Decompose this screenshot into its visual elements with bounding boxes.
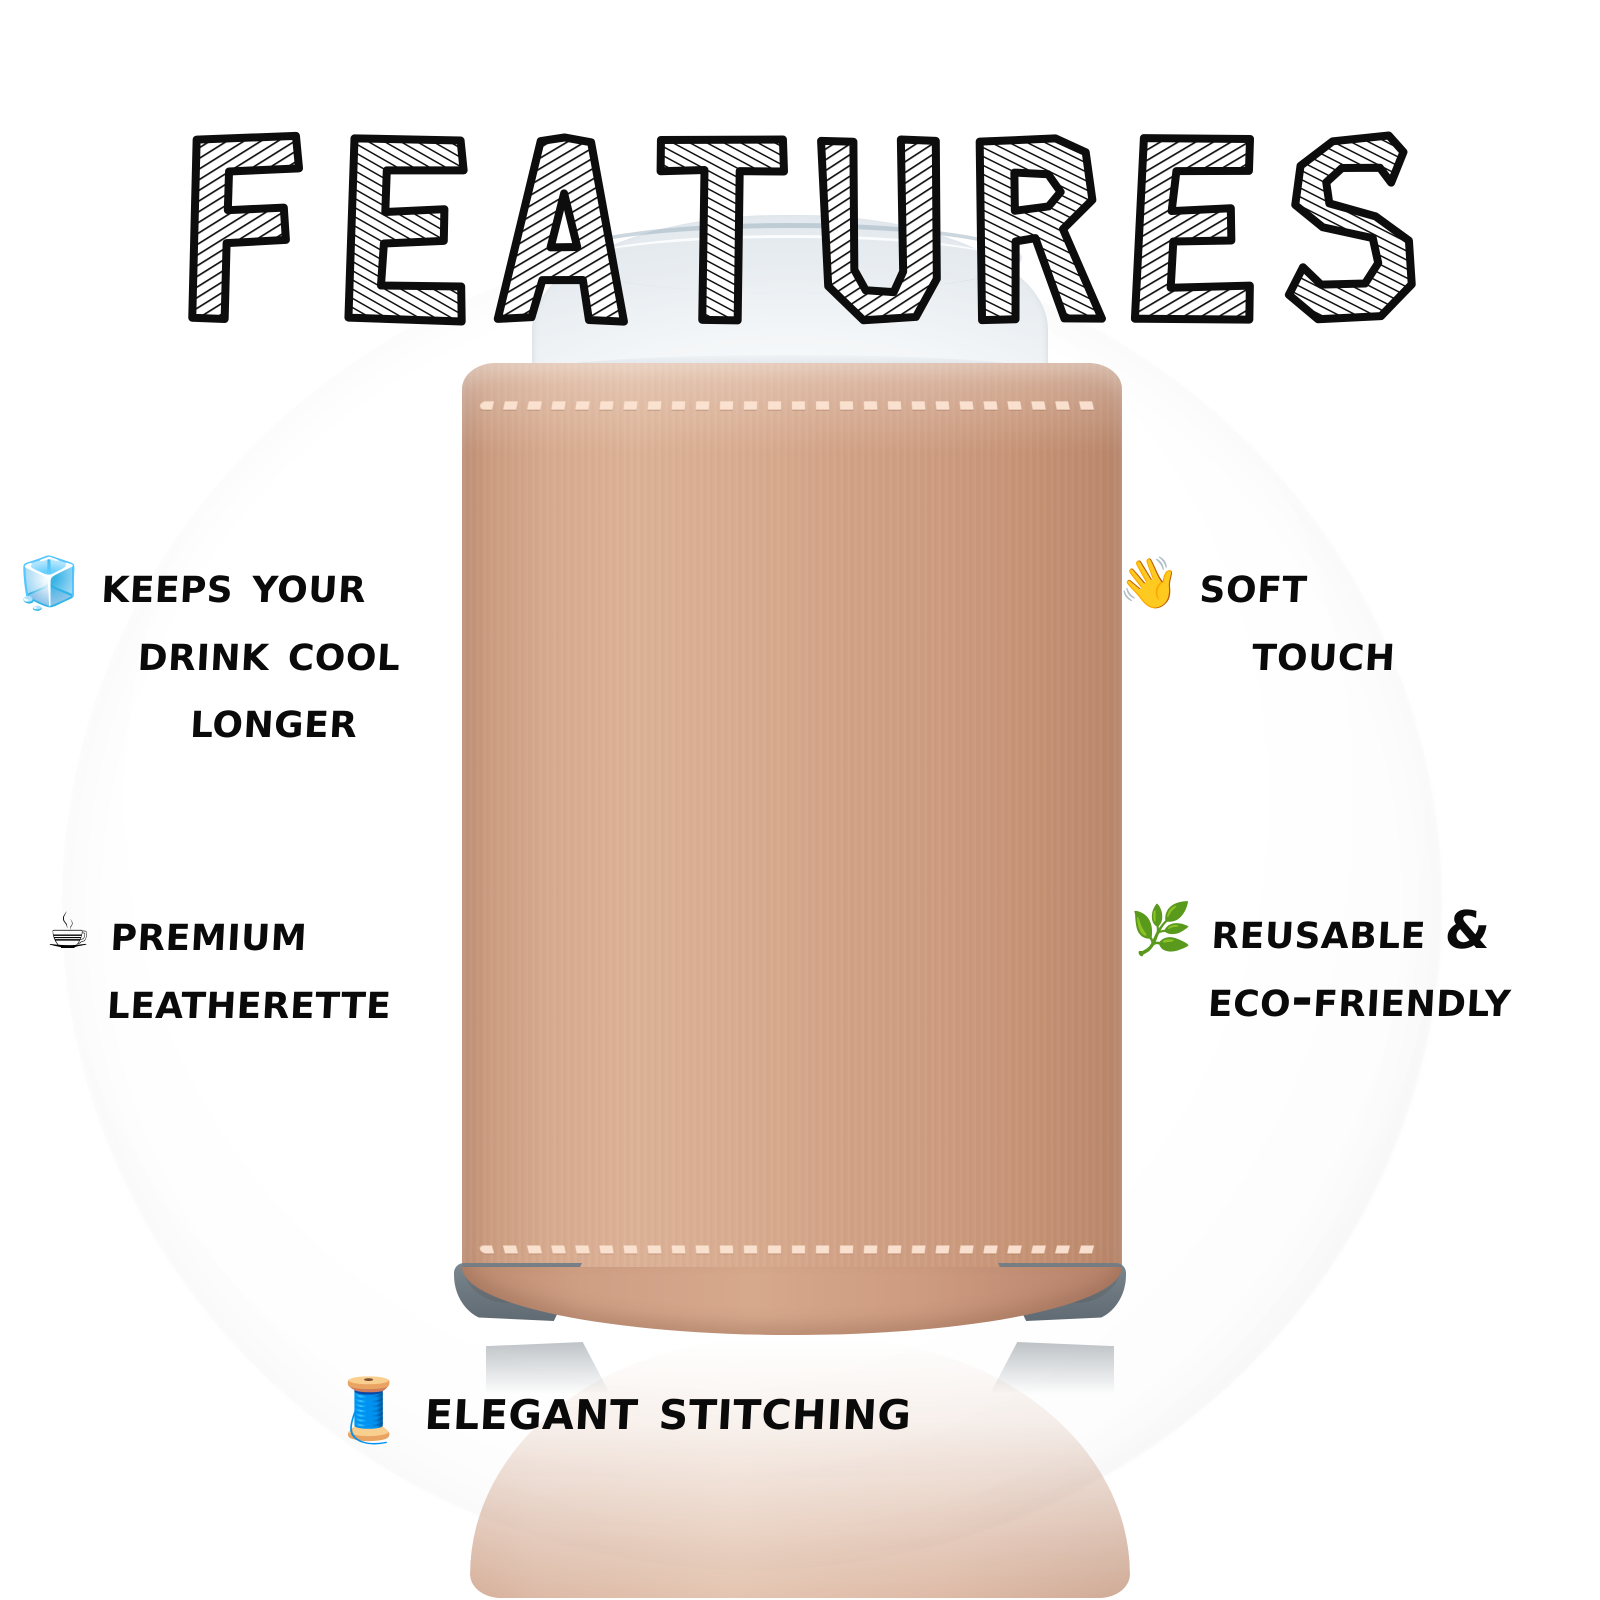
feature-label-eco: Reusable & Eco-Friendly xyxy=(1207,898,1517,1033)
sleeve-bottom xyxy=(462,1267,1122,1335)
infographic-canvas: 🧊 Keeps Your Drink Cool longer ☕ Premium… xyxy=(0,0,1600,1600)
feature-label-leatherette: Premium Leatherette xyxy=(105,900,396,1035)
herb-leaf-icon: 🌿 xyxy=(1130,904,1192,954)
can-rim-highlight xyxy=(572,235,1008,293)
feature-elegant-stitching: 🧵 Elegant Stitching xyxy=(330,1372,1270,1447)
feature-premium-leatherette: ☕ Premium Leatherette xyxy=(46,900,496,1035)
product-image xyxy=(440,215,1140,1335)
ice-cube-icon: 🧊 xyxy=(18,558,80,608)
feature-soft-touch: 👋 Soft Touch xyxy=(1118,552,1588,687)
feature-reusable-eco-friendly: 🌿 Reusable & Eco-Friendly xyxy=(1130,898,1600,1033)
leatherette-sleeve xyxy=(462,363,1122,1303)
feature-label-stitching: Elegant Stitching xyxy=(423,1372,914,1447)
feature-keeps-drink-cool: 🧊 Keeps Your Drink Cool longer xyxy=(18,552,488,755)
waving-hand-icon: 👋 xyxy=(1118,558,1180,608)
feature-label-soft-touch: Soft Touch xyxy=(1195,552,1402,687)
bottom-stitching xyxy=(479,1245,1105,1253)
title-letter-s-7 xyxy=(1286,135,1412,320)
thread-spool-icon: 🧵 xyxy=(330,1379,407,1441)
title-letter-f-0 xyxy=(192,136,299,319)
feature-label-cool: Keeps Your Drink Cool longer xyxy=(93,552,406,755)
title-letter-e-6 xyxy=(1135,136,1254,321)
top-stitching xyxy=(479,401,1105,409)
hot-beverage-icon: ☕ xyxy=(46,906,91,956)
